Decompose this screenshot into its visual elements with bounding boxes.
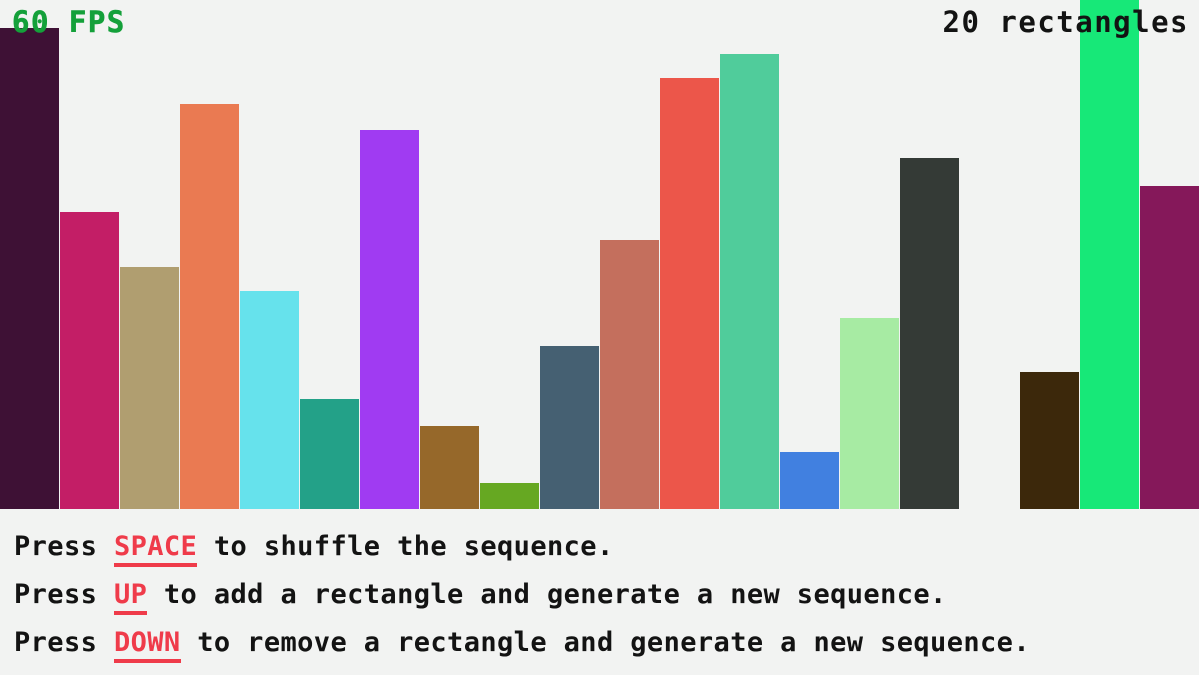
instruction-suffix: to remove a rectangle and generate a new… xyxy=(181,627,1030,658)
rectangle-visualizer-app: 60 FPS 20 rectangles Press SPACE to shuf… xyxy=(0,0,1199,675)
instruction-prefix: Press xyxy=(14,579,114,610)
instruction-prefix: Press xyxy=(14,627,114,658)
chart-bar xyxy=(300,399,359,509)
instruction-line-shuffle: Press SPACE to shuffle the sequence. xyxy=(14,523,1199,571)
chart-bar xyxy=(540,346,599,509)
chart-bar xyxy=(1080,0,1139,509)
chart-bar xyxy=(600,240,659,509)
chart-bar xyxy=(660,78,719,509)
chart-bar xyxy=(480,483,539,509)
instruction-suffix: to shuffle the sequence. xyxy=(197,531,613,562)
chart-bar xyxy=(60,212,119,509)
chart-bar xyxy=(180,104,239,509)
chart-bar xyxy=(1140,186,1199,509)
chart-bar xyxy=(840,318,899,509)
rectangle-count-label: 20 rectangles xyxy=(943,8,1189,37)
chart-bar xyxy=(1020,372,1079,509)
key-space[interactable]: SPACE xyxy=(114,531,197,567)
chart-bar xyxy=(900,158,959,509)
chart-bar xyxy=(120,267,179,509)
key-up[interactable]: UP xyxy=(114,579,147,615)
key-down[interactable]: DOWN xyxy=(114,627,181,663)
chart-bar xyxy=(360,130,419,509)
instruction-line-add: Press UP to add a rectangle and generate… xyxy=(14,571,1199,619)
instructions-panel: Press SPACE to shuffle the sequence. Pre… xyxy=(0,509,1199,675)
chart-bar xyxy=(420,426,479,509)
instruction-suffix: to add a rectangle and generate a new se… xyxy=(147,579,946,610)
chart-bar xyxy=(0,28,59,509)
instruction-line-remove: Press DOWN to remove a rectangle and gen… xyxy=(14,619,1199,667)
fps-counter: 60 FPS xyxy=(12,8,126,37)
chart-bar xyxy=(240,291,299,509)
bar-chart-canvas[interactable] xyxy=(0,0,1199,509)
chart-bar xyxy=(720,54,779,509)
instruction-prefix: Press xyxy=(14,531,114,562)
chart-bar xyxy=(780,452,839,509)
